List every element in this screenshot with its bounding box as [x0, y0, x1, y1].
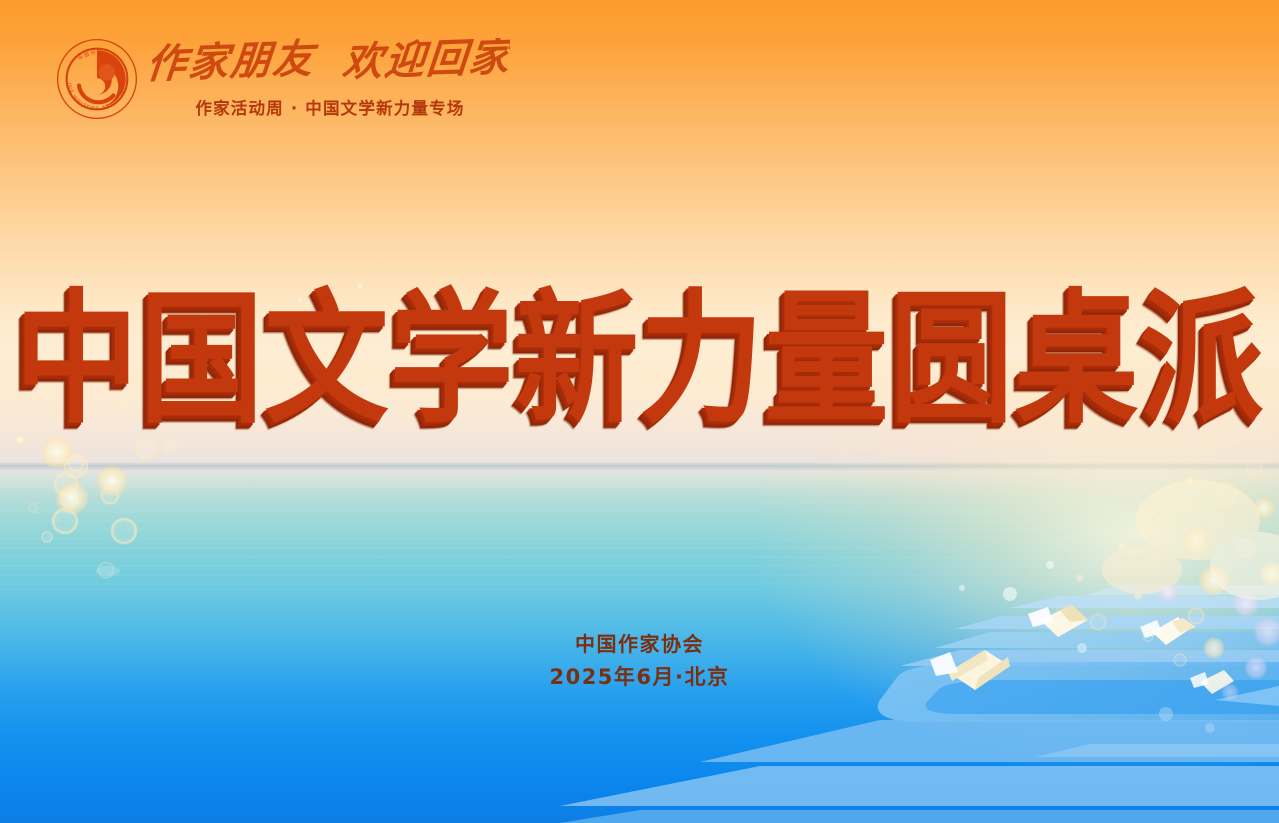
header-subtitle: 作家活动周 · 中国文学新力量专场 [150, 95, 510, 119]
slogan-text-part-2: 欢迎回家 [340, 38, 510, 86]
main-title-wrap: 中国文学新力量圆桌派 [0, 286, 1279, 415]
brand-header-text: 作家朋友 欢迎回家 作家活动周 · 中国文学新力量专场 [150, 36, 510, 119]
slogan-calligraphy: 作家朋友 欢迎回家 [150, 38, 510, 92]
footer-organization: 中国作家协会 [0, 633, 1279, 655]
page-title: 中国文学新力量圆桌派 [14, 286, 1264, 436]
china-writers-association-logo-icon: CHINA WRITERS ASSOCIATION 中国作家协会 [56, 38, 138, 120]
footer-date-location: 2025年6月·北京 [0, 666, 1279, 689]
poster-canvas: CHINA WRITERS ASSOCIATION 中国作家协会 作家朋友 欢迎… [0, 0, 1279, 823]
brand-header: CHINA WRITERS ASSOCIATION 中国作家协会 作家朋友 欢迎… [56, 36, 510, 120]
poster-footer: 中国作家协会 2025年6月·北京 [0, 633, 1279, 689]
slogan-text-part-1: 作家朋友 [150, 38, 321, 88]
